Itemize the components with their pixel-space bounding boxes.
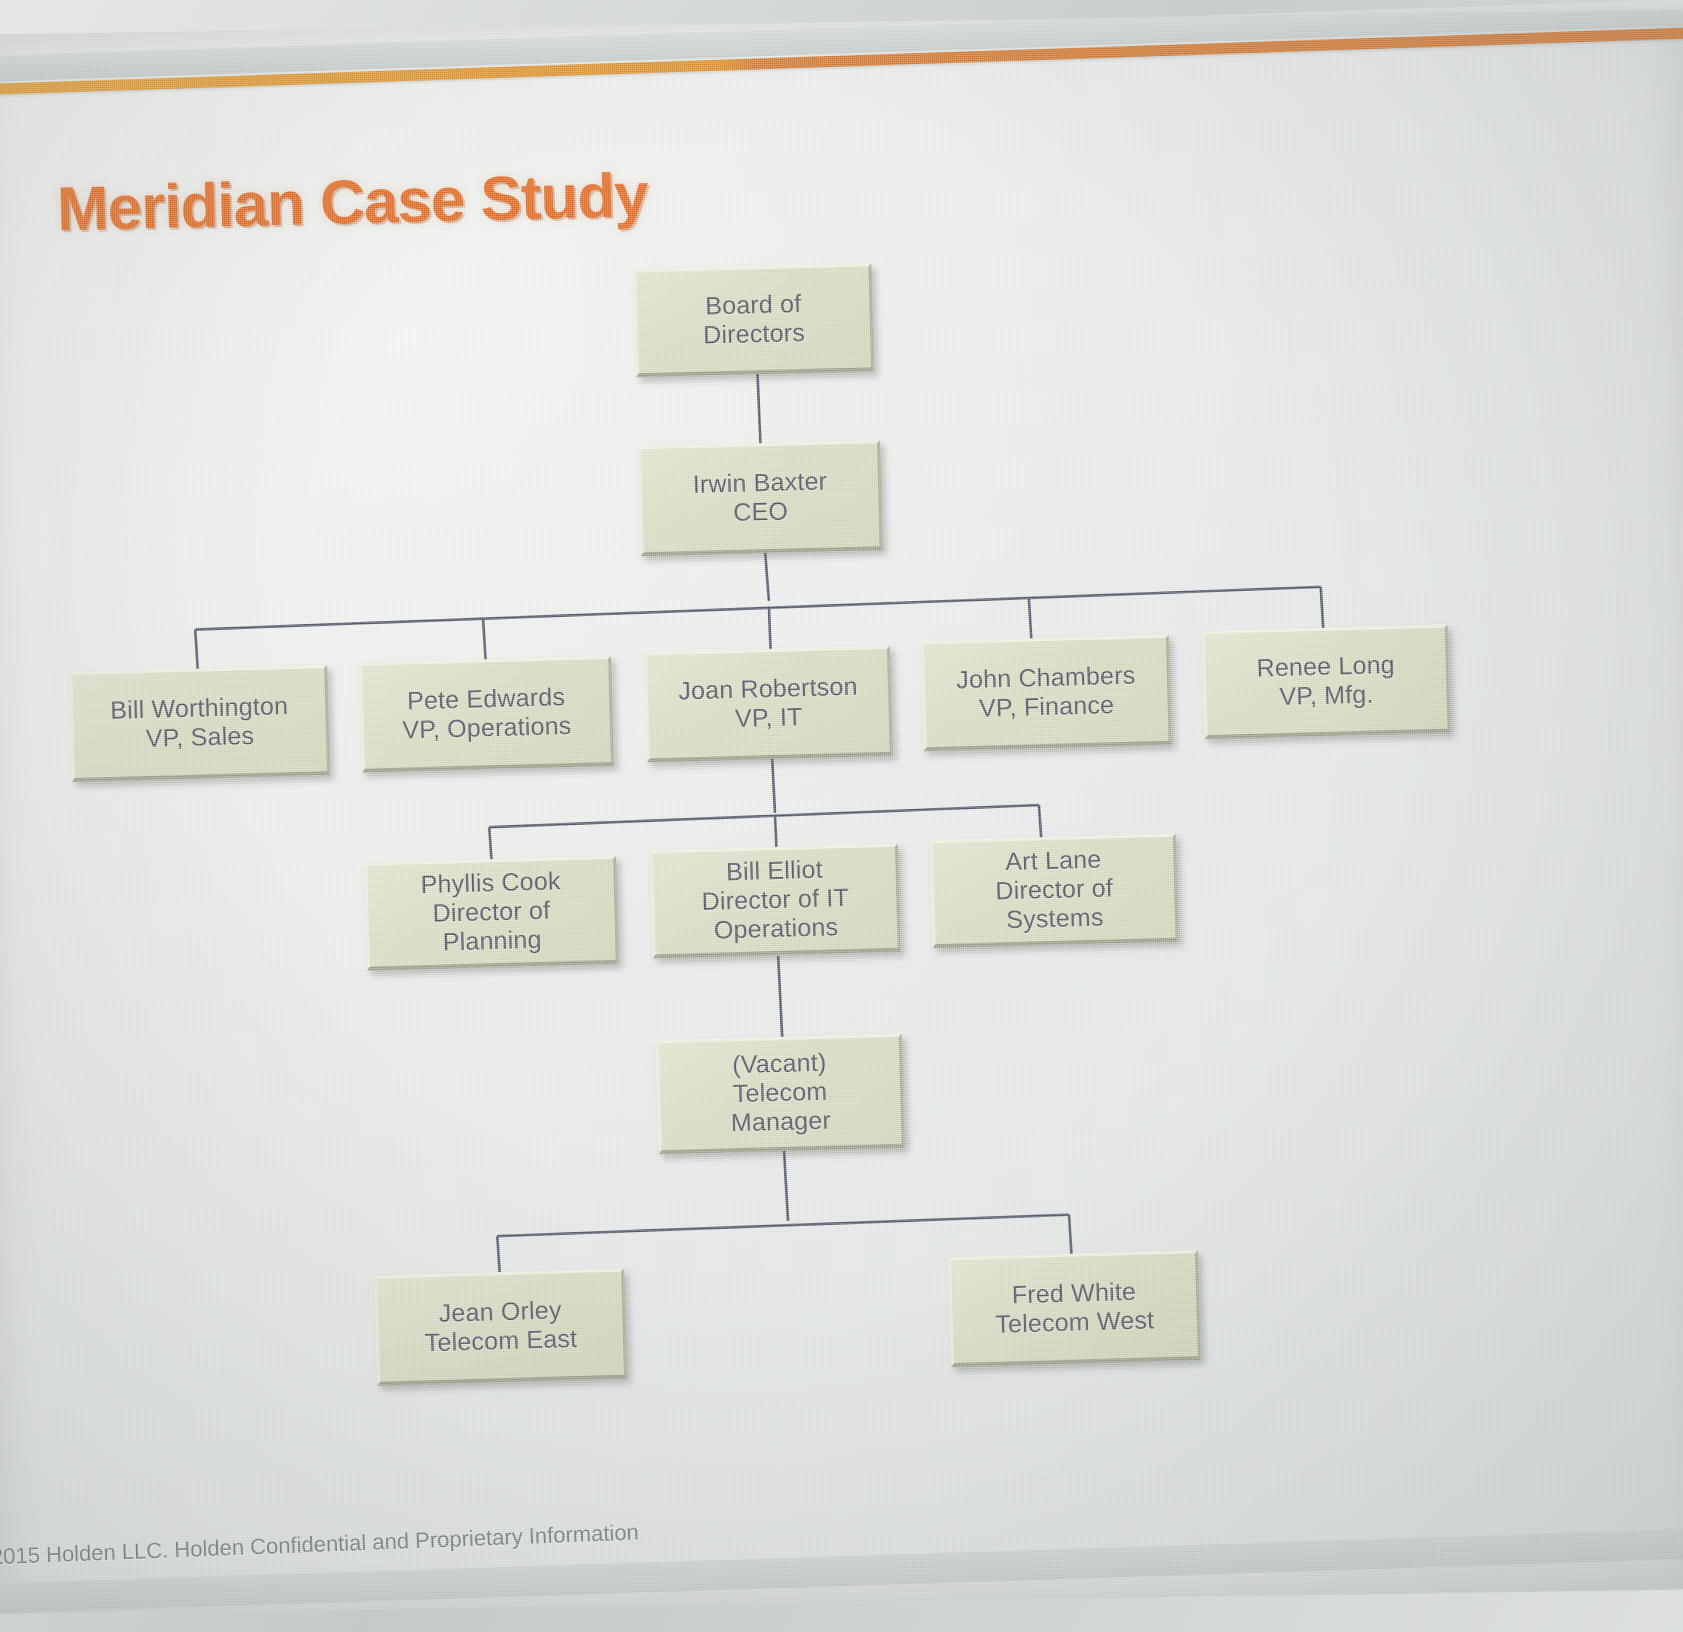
org-node-ceo-line2: CEO <box>693 496 828 528</box>
vp-bus-line <box>195 587 1321 630</box>
org-node-director-systems-line3: Systems <box>996 903 1114 935</box>
edge-to-vp-finance <box>1029 598 1032 641</box>
org-node-vp-it[interactable]: Joan Robertson VP, IT <box>644 646 893 763</box>
org-node-ceo[interactable]: Irwin Baxter CEO <box>638 440 883 556</box>
org-node-director-planning[interactable]: Phyllis Cook Director of Planning <box>364 856 619 971</box>
org-node-director-it-operations-line3: Operations <box>702 913 850 946</box>
org-chart: Board of Directors Irwin Baxter CEO Bill… <box>0 9 1683 1614</box>
org-node-director-it-operations-line1: Bill Elliot <box>701 855 849 888</box>
org-node-vp-finance[interactable]: John Chambers VP, Finance <box>921 635 1172 752</box>
org-node-director-systems-line2: Director of <box>995 874 1113 906</box>
edge-itops-telecom <box>778 956 782 1041</box>
org-node-director-it-operations-line2: Director of IT <box>701 884 849 917</box>
edge-to-dir-sys <box>1039 805 1042 841</box>
org-node-vp-mfg[interactable]: Renee Long VP, Mfg. <box>1202 624 1451 739</box>
org-node-board[interactable]: Board of Directors <box>633 263 874 377</box>
org-node-telecom-manager-line2: Telecom <box>730 1078 831 1110</box>
edge-to-telecom-east <box>497 1236 500 1275</box>
org-node-telecom-west-line1: Fred White <box>994 1277 1154 1311</box>
org-node-director-it-operations[interactable]: Bill Elliot Director of IT Operations <box>650 844 901 959</box>
org-node-vp-operations-line1: Pete Edwards <box>401 682 571 716</box>
org-node-director-planning-line2: Director of <box>421 896 562 929</box>
org-node-telecom-manager[interactable]: (Vacant) Telecom Manager <box>656 1034 905 1155</box>
org-node-vp-finance-line2: VP, Finance <box>957 690 1137 724</box>
telecom-bus-line <box>497 1215 1069 1236</box>
edge-to-vp-it <box>769 608 771 651</box>
org-node-vp-mfg-line1: Renee Long <box>1256 650 1395 683</box>
edge-to-telecom-west <box>1069 1215 1072 1257</box>
org-node-telecom-east[interactable]: Jean Orley Telecom East <box>374 1269 627 1386</box>
slide-photograph: Meridian Case Study <box>0 0 1683 1632</box>
edge-to-dir-itops <box>775 816 777 851</box>
presentation-slide: Meridian Case Study <box>0 9 1683 1614</box>
org-node-telecom-west-line2: Telecom West <box>995 1306 1155 1340</box>
org-node-vp-it-line1: Joan Robertson <box>678 672 858 706</box>
director-bus-line <box>489 805 1039 827</box>
org-node-vp-operations-line2: VP, Operations <box>402 711 572 745</box>
org-node-vp-sales[interactable]: Bill Worthington VP, Sales <box>69 665 330 782</box>
org-node-vp-finance-line1: John Chambers <box>956 661 1136 695</box>
edge-to-dir-plan <box>489 827 492 863</box>
org-node-vp-mfg-line2: VP, Mfg. <box>1257 679 1396 712</box>
org-node-board-line2: Directors <box>703 318 806 350</box>
org-node-telecom-east-line1: Jean Orley <box>424 1295 577 1328</box>
org-node-telecom-east-line2: Telecom East <box>424 1324 577 1357</box>
org-node-director-systems-line1: Art Lane <box>994 845 1112 877</box>
org-node-telecom-manager-line3: Manager <box>731 1107 832 1139</box>
org-node-vp-it-line2: VP, IT <box>679 701 859 735</box>
edge-board-ceo <box>757 373 760 446</box>
org-node-director-planning-line1: Phyllis Cook <box>420 867 561 900</box>
edge-to-vp-ops <box>483 619 486 662</box>
org-node-telecom-manager-line1: (Vacant) <box>729 1049 830 1081</box>
edge-to-vp-sales <box>195 630 198 672</box>
org-node-vp-sales-line2: VP, Sales <box>111 721 290 755</box>
org-node-vp-operations[interactable]: Pete Edwards VP, Operations <box>359 656 614 773</box>
edge-vpit-down <box>772 759 775 813</box>
org-node-ceo-line1: Irwin Baxter <box>692 467 827 499</box>
org-node-telecom-west[interactable]: Fred White Telecom West <box>948 1250 1201 1367</box>
org-node-board-line1: Board of <box>702 289 805 321</box>
org-node-vp-sales-line1: Bill Worthington <box>110 692 289 726</box>
org-chart-connectors <box>0 10 1681 1632</box>
org-node-director-systems[interactable]: Art Lane Director of Systems <box>930 834 1179 949</box>
edge-telecom-down <box>784 1151 788 1221</box>
edge-ceo-down <box>765 551 769 601</box>
edge-to-vp-mfg <box>1321 587 1324 631</box>
org-node-director-planning-line3: Planning <box>422 925 563 958</box>
